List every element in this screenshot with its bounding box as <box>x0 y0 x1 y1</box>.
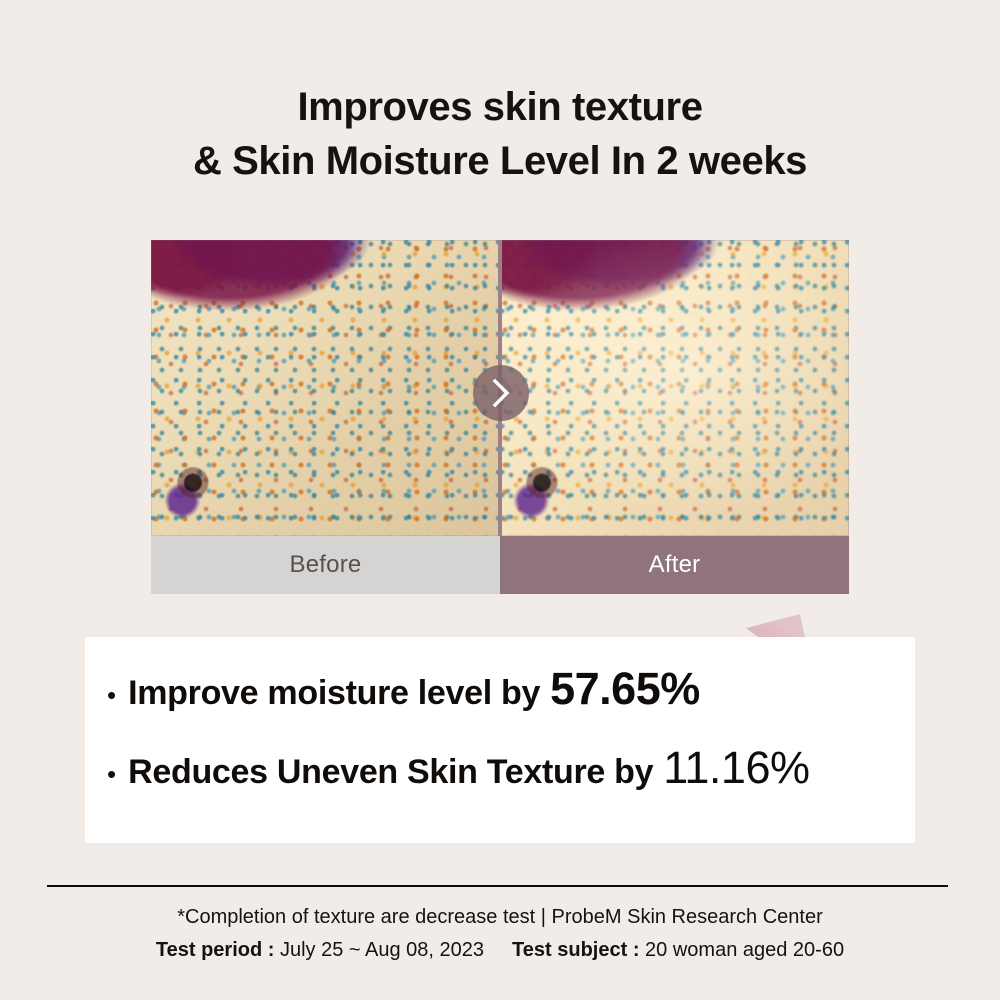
test-subject-value: 20 woman aged 20-60 <box>645 939 844 961</box>
before-label: Before <box>151 536 500 594</box>
results-card: • Improve moisture level by 57.65% • Red… <box>85 637 915 843</box>
result-item-moisture: • Improve moisture level by 57.65% <box>85 663 937 715</box>
chevron-right-icon[interactable] <box>473 365 529 421</box>
test-subject-label: Test subject : <box>512 939 645 961</box>
test-period-value: July 25 ~ Aug 08, 2023 <box>280 939 484 961</box>
test-period-label: Test period : <box>156 939 280 961</box>
bullet-icon: • <box>107 761 116 787</box>
after-label: After <box>500 536 849 594</box>
page-title-line-1: Improves skin texture <box>0 84 1000 130</box>
skin-texture-image-before <box>151 240 500 536</box>
result-item-moisture-label: Improve moisture level by <box>128 674 540 713</box>
result-item-texture-label: Reduces Uneven Skin Texture by <box>128 753 653 792</box>
result-item-texture-value: 11.16% <box>663 742 809 794</box>
after-image-pane <box>500 240 849 536</box>
footer-source-line: *Completion of texture are decrease test… <box>0 906 1000 929</box>
bullet-icon: • <box>107 682 116 708</box>
skin-texture-image-after <box>500 240 849 536</box>
footer: *Completion of texture are decrease test… <box>0 906 1000 962</box>
footer-divider <box>47 885 948 887</box>
page-title: Improves skin texture & Skin Moisture Le… <box>0 84 1000 185</box>
comparison-labels: Before After <box>151 536 849 594</box>
footer-test-line: Test period : July 25 ~ Aug 08, 2023Test… <box>0 939 1000 962</box>
before-image-pane <box>151 240 500 536</box>
result-item-texture: • Reduces Uneven Skin Texture by 11.16% <box>85 742 937 794</box>
page-title-line-2: & Skin Moisture Level In 2 weeks <box>0 138 1000 184</box>
result-item-moisture-value: 57.65% <box>550 663 700 715</box>
